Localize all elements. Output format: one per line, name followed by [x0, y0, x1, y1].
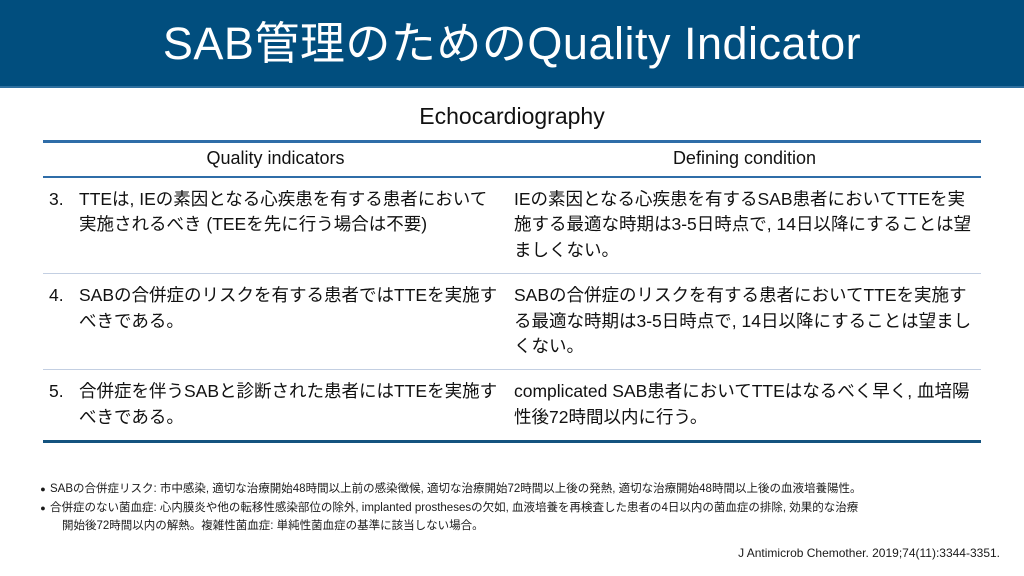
table-header: Quality indicators Defining condition	[43, 142, 981, 178]
indicator-text: SABの合併症のリスクを有する患者ではTTEを実施すべきである。	[79, 283, 502, 334]
column-header-quality-indicators: Quality indicators	[43, 142, 508, 178]
table-row: 5. 合併症を伴うSABと診断された患者にはTTEを実施すべきである。 comp…	[43, 370, 981, 442]
footnote-list: ● SABの合併症リスク: 市中感染, 適切な治療開始48時間以上前の感染徴候,…	[36, 481, 996, 536]
indicator-cell: 4. SABの合併症のリスクを有する患者ではTTEを実施すべきである。	[43, 274, 508, 370]
footnote-text-line2: 開始後72時間以内の解熱。複雑性菌血症: 単純性菌血症の基準に該当しない場合。	[50, 518, 996, 536]
indicator-number: 4.	[49, 283, 79, 308]
footnote-text: 合併症のない菌血症: 心内膜炎や他の転移性感染部位の除外, implanted …	[50, 500, 996, 536]
slide-title-banner: SAB管理のためのQuality Indicator	[0, 0, 1024, 88]
table-row: 3. TTEは, IEの素因となる心疾患を有する患者において実施されるべき (T…	[43, 177, 981, 274]
footnote-item: ● SABの合併症リスク: 市中感染, 適切な治療開始48時間以上前の感染徴候,…	[36, 481, 996, 499]
section-title: Echocardiography	[0, 103, 1024, 131]
footnote-text-line1: 合併症のない菌血症: 心内膜炎や他の転移性感染部位の除外, implanted …	[50, 502, 858, 514]
footnote-item: ● 合併症のない菌血症: 心内膜炎や他の転移性感染部位の除外, implante…	[36, 500, 996, 536]
condition-cell: complicated SAB患者においてTTEはなるべく早く, 血培陽性後72…	[508, 370, 981, 442]
indicator-item: 3. TTEは, IEの素因となる心疾患を有する患者において実施されるべき (T…	[49, 187, 502, 238]
table-header-row: Quality indicators Defining condition	[43, 142, 981, 178]
slide-body: Echocardiography Quality indicators Defi…	[0, 88, 1024, 576]
bullet-icon: ●	[36, 500, 50, 518]
column-header-defining-condition: Defining condition	[508, 142, 981, 178]
indicator-cell: 5. 合併症を伴うSABと診断された患者にはTTEを実施すべきである。	[43, 370, 508, 442]
indicator-item: 4. SABの合併症のリスクを有する患者ではTTEを実施すべきである。	[49, 283, 502, 334]
citation: J Antimicrob Chemother. 2019;74(11):3344…	[738, 546, 1000, 560]
indicator-number: 3.	[49, 187, 79, 212]
indicator-item: 5. 合併症を伴うSABと診断された患者にはTTEを実施すべきである。	[49, 379, 502, 430]
condition-cell: IEの素因となる心疾患を有するSAB患者においてTTEを実施する最適な時期は3-…	[508, 177, 981, 274]
bullet-icon: ●	[36, 481, 50, 499]
indicator-number: 5.	[49, 379, 79, 404]
indicator-cell: 3. TTEは, IEの素因となる心疾患を有する患者において実施されるべき (T…	[43, 177, 508, 274]
quality-indicator-table: Quality indicators Defining condition 3.…	[43, 140, 981, 443]
indicator-text: 合併症を伴うSABと診断された患者にはTTEを実施すべきである。	[79, 379, 502, 430]
table-body: 3. TTEは, IEの素因となる心疾患を有する患者において実施されるべき (T…	[43, 177, 981, 442]
table-row: 4. SABの合併症のリスクを有する患者ではTTEを実施すべきである。 SABの…	[43, 274, 981, 370]
condition-cell: SABの合併症のリスクを有する患者においてTTEを実施する最適な時期は3-5日時…	[508, 274, 981, 370]
indicator-text: TTEは, IEの素因となる心疾患を有する患者において実施されるべき (TEEを…	[79, 187, 502, 238]
slide-title: SAB管理のためのQuality Indicator	[163, 21, 861, 66]
footnote-text: SABの合併症リスク: 市中感染, 適切な治療開始48時間以上前の感染徴候, 適…	[50, 481, 996, 499]
